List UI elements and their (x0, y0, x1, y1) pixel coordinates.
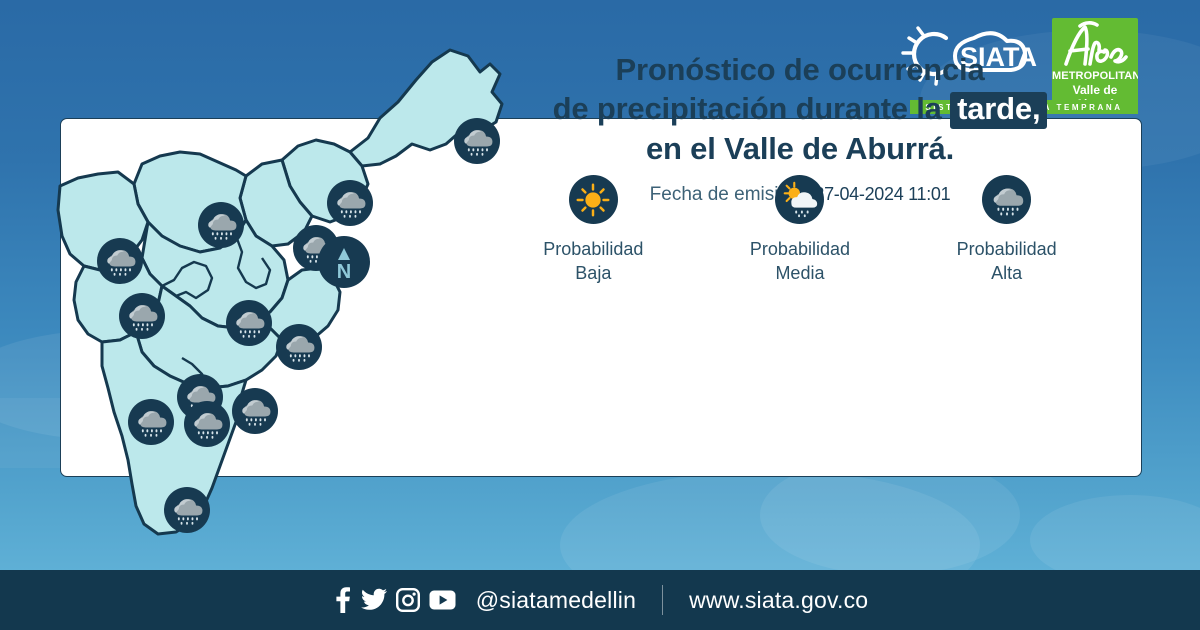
map-marker-medellin[interactable] (226, 300, 272, 346)
map-marker-san-jeronimo[interactable] (97, 238, 143, 284)
legend-label-line2: Alta (957, 261, 1057, 285)
footer-divider (662, 585, 663, 615)
rain-cloud-icon (982, 175, 1031, 224)
map-marker-bello[interactable] (198, 202, 244, 248)
headline-line-2: de precipitación durante la tarde, (490, 89, 1110, 129)
legend-label-media: ProbabilidadMedia (750, 237, 850, 286)
footer-bar: @siatamedellin www.siata.gov.co (0, 570, 1200, 630)
legend-label-line1: Probabilidad (543, 237, 643, 261)
facebook-icon[interactable] (332, 587, 352, 613)
map-marker-caldas[interactable] (232, 388, 278, 434)
map-marker-caldas-south[interactable] (164, 487, 210, 533)
instagram-icon[interactable] (396, 588, 420, 612)
social-handle[interactable]: @siatamedellin (476, 587, 636, 614)
map-marker-caldas-north[interactable] (184, 401, 230, 447)
map-marker-girardota[interactable] (327, 180, 373, 226)
headline: Pronóstico de ocurrencia de precipitació… (490, 50, 1110, 168)
map-marker-envigado[interactable] (276, 324, 322, 370)
sun-icon (569, 175, 618, 224)
legend-item-alta: ProbabilidadAlta (903, 175, 1110, 286)
headline-line-3: en el Valle de Aburrá. (490, 129, 1110, 168)
probability-legend: ProbabilidadBajaProbabilidadMediaProbabi… (490, 175, 1110, 286)
legend-label-line2: Media (750, 261, 850, 285)
headline-highlight-tarde: tarde, (950, 92, 1047, 129)
youtube-icon[interactable] (429, 590, 456, 610)
compass-north-label: N (337, 261, 351, 283)
map-marker-sabaneta[interactable] (128, 399, 174, 445)
legend-item-media: ProbabilidadMedia (697, 175, 904, 286)
valle-de-aburra-map: N (50, 40, 510, 560)
legend-label-line1: Probabilidad (957, 237, 1057, 261)
legend-label-alta: ProbabilidadAlta (957, 237, 1057, 286)
legend-item-baja: ProbabilidadBaja (490, 175, 697, 286)
infographic-canvas: SIATA METROPOLITANA Valle de Aburrá (0, 0, 1200, 630)
twitter-icon[interactable] (361, 588, 387, 612)
compass-rose: N (318, 236, 370, 288)
website-url[interactable]: www.siata.gov.co (689, 587, 868, 614)
headline-line-2-text: de precipitación durante la (553, 91, 942, 126)
sun-rain-cloud-icon (775, 175, 824, 224)
map-marker-itagui[interactable] (119, 293, 165, 339)
forecast-panel: Pronóstico de ocurrencia de precipitació… (490, 50, 1110, 340)
legend-label-line2: Baja (543, 261, 643, 285)
social-icons (332, 587, 456, 613)
legend-label-baja: ProbabilidadBaja (543, 237, 643, 286)
legend-label-line1: Probabilidad (750, 237, 850, 261)
headline-line-1: Pronóstico de ocurrencia (490, 50, 1110, 89)
